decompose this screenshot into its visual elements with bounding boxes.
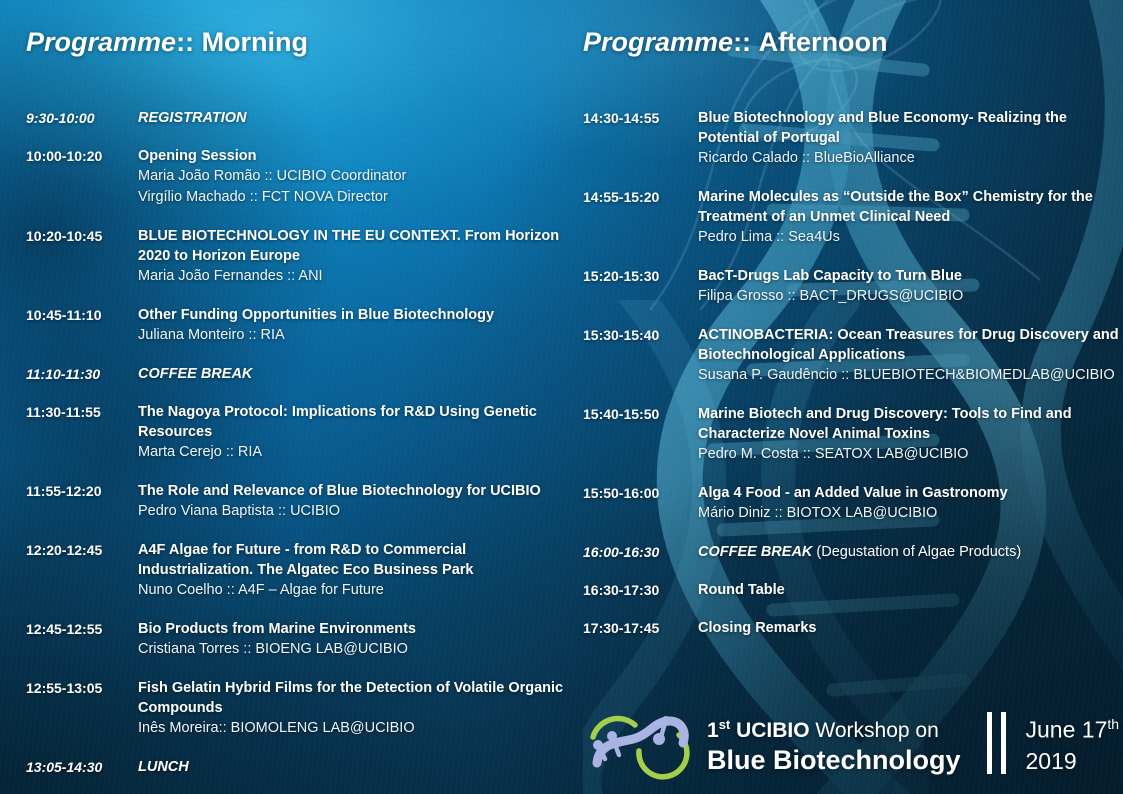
poster-content: Programme:: Morning 9:30-10:00REGISTRATI… xyxy=(0,0,1123,794)
schedule-row: 9:30-10:00REGISTRATION xyxy=(26,108,571,128)
schedule-row-speaker: Susana P. Gaudêncio :: BLUEBIOTECH&BIOME… xyxy=(698,365,1123,386)
footer-divider xyxy=(987,712,1006,774)
schedule-row-title-text: Closing Remarks xyxy=(698,620,816,636)
schedule-row: 11:30-11:55The Nagoya Protocol: Implicat… xyxy=(26,402,571,463)
schedule-row-body: Marine Molecules as “Outside the Box” Ch… xyxy=(698,187,1123,248)
schedule-row-time: 15:40-15:50 xyxy=(583,404,698,424)
schedule-row-time: 14:30-14:55 xyxy=(583,108,698,128)
schedule-row-time: 11:55-12:20 xyxy=(26,481,138,501)
morning-title-programme: Programme xyxy=(26,27,176,57)
schedule-row-title: Blue Biotechnology and Blue Economy- Rea… xyxy=(698,108,1123,148)
schedule-row-title: Closing Remarks xyxy=(698,618,1123,638)
schedule-row-title: A4F Algae for Future - from R&D to Comme… xyxy=(138,540,571,580)
schedule-row: 15:40-15:50Marine Biotech and Drug Disco… xyxy=(583,404,1123,465)
schedule-row-title-text: Opening Session xyxy=(138,148,256,164)
workshop-organisation: UCIBIO xyxy=(730,719,809,742)
schedule-row-body: Closing Remarks xyxy=(698,618,1123,638)
schedule-row: 12:20-12:45A4F Algae for Future - from R… xyxy=(26,540,571,601)
footer-divider-bar-1 xyxy=(987,712,992,774)
afternoon-title-period: Afternoon xyxy=(759,27,888,57)
schedule-row-speaker: Ricardo Calado :: BlueBioAlliance xyxy=(698,148,1123,169)
ucibio-blue-biotechnology-logo-icon xyxy=(583,703,695,783)
schedule-row-body: Other Funding Opportunities in Blue Biot… xyxy=(138,305,571,346)
workshop-ordinal-suffix: st xyxy=(719,717,731,732)
schedule-row: 16:00-16:30COFFEE BREAK (Degustation of … xyxy=(583,542,1123,562)
schedule-row-title: LUNCH xyxy=(138,757,571,777)
schedule-row-title: The Nagoya Protocol: Implications for R&… xyxy=(138,402,571,442)
schedule-row-title: Other Funding Opportunities in Blue Biot… xyxy=(138,305,571,325)
schedule-row: 12:45-12:55Bio Products from Marine Envi… xyxy=(26,619,571,660)
schedule-row-speaker: Maria João Romão :: UCIBIO Coordinator xyxy=(138,166,571,187)
schedule-row-speaker: Pedro Viana Baptista :: UCIBIO xyxy=(138,501,571,522)
schedule-row-body: Opening SessionMaria João Romão :: UCIBI… xyxy=(138,146,571,208)
schedule-row-time: 10:45-11:10 xyxy=(26,305,138,325)
schedule-row-body: COFFEE BREAK (Degustation of Algae Produ… xyxy=(698,542,1123,562)
schedule-row-time: 10:00-10:20 xyxy=(26,146,138,166)
schedule-row: 11:55-12:20The Role and Relevance of Blu… xyxy=(26,481,571,522)
schedule-row-body: Round Table xyxy=(698,580,1123,600)
schedule-row-title-text: BacT-Drugs Lab Capacity to Turn Blue xyxy=(698,268,962,284)
schedule-row-body: ACTINOBACTERIA: Ocean Treasures for Drug… xyxy=(698,325,1123,386)
schedule-row-speaker: Marta Cerejo :: RIA xyxy=(138,442,571,463)
footer-banner: 1st UCIBIO Workshop on Blue Biotechnolog… xyxy=(583,700,1115,786)
event-date: June 17th 2019 xyxy=(1026,709,1120,777)
schedule-row-title-text: ACTINOBACTERIA: Ocean Treasures for Drug… xyxy=(698,327,1119,363)
schedule-row-title: BLUE BIOTECHNOLOGY IN THE EU CONTEXT. Fr… xyxy=(138,226,571,266)
schedule-row-title-text: COFFEE BREAK xyxy=(698,544,812,560)
schedule-row-title: Round Table xyxy=(698,580,1123,600)
schedule-row-time: 15:30-15:40 xyxy=(583,325,698,345)
schedule-row: 10:00-10:20Opening SessionMaria João Rom… xyxy=(26,146,571,208)
event-date-year: 2019 xyxy=(1026,746,1120,777)
morning-title-separator: :: xyxy=(176,27,194,57)
schedule-row-title: ACTINOBACTERIA: Ocean Treasures for Drug… xyxy=(698,325,1123,365)
schedule-row-title-text: Fish Gelatin Hybrid Films for the Detect… xyxy=(138,680,563,716)
schedule-row: 10:45-11:10Other Funding Opportunities i… xyxy=(26,305,571,346)
schedule-row-body: REGISTRATION xyxy=(138,108,571,128)
workshop-ordinal-number: 1 xyxy=(707,719,719,742)
afternoon-title-separator: :: xyxy=(733,27,751,57)
schedule-row-speaker: Pedro M. Costa :: SEATOX LAB@UCIBIO xyxy=(698,444,1123,465)
morning-schedule-list: 9:30-10:00REGISTRATION10:00-10:20Opening… xyxy=(26,108,571,794)
schedule-row-title: Marine Molecules as “Outside the Box” Ch… xyxy=(698,187,1123,227)
schedule-row: 16:30-17:30Round Table xyxy=(583,580,1123,600)
schedule-row-body: BacT-Drugs Lab Capacity to Turn BlueFili… xyxy=(698,266,1123,307)
schedule-row-time: 9:30-10:00 xyxy=(26,108,138,128)
schedule-row-title-text: Other Funding Opportunities in Blue Biot… xyxy=(138,307,494,323)
schedule-row-time: 16:30-17:30 xyxy=(583,580,698,600)
schedule-row-time: 15:50-16:00 xyxy=(583,483,698,503)
schedule-row-body: Fish Gelatin Hybrid Films for the Detect… xyxy=(138,678,571,739)
schedule-row-title-text: REGISTRATION xyxy=(138,110,246,126)
schedule-row-title-text: COFFEE BREAK xyxy=(138,366,252,382)
schedule-row: 11:10-11:30COFFEE BREAK xyxy=(26,364,571,384)
schedule-row-title: REGISTRATION xyxy=(138,108,571,128)
schedule-row-title: COFFEE BREAK (Degustation of Algae Produ… xyxy=(698,542,1123,562)
schedule-row-speaker: Maria João Fernandes :: ANI xyxy=(138,266,571,287)
schedule-row-title: BacT-Drugs Lab Capacity to Turn Blue xyxy=(698,266,1123,286)
schedule-row-title: Marine Biotech and Drug Discovery: Tools… xyxy=(698,404,1123,444)
morning-column-title: Programme:: Morning xyxy=(26,28,308,58)
schedule-row-body: Blue Biotechnology and Blue Economy- Rea… xyxy=(698,108,1123,169)
schedule-row-time: 11:10-11:30 xyxy=(26,364,138,384)
schedule-row-body: BLUE BIOTECHNOLOGY IN THE EU CONTEXT. Fr… xyxy=(138,226,571,287)
schedule-row: 15:20-15:30BacT-Drugs Lab Capacity to Tu… xyxy=(583,266,1123,307)
schedule-row-time: 13:05-14:30 xyxy=(26,757,138,777)
schedule-row-body: A4F Algae for Future - from R&D to Comme… xyxy=(138,540,571,601)
schedule-row-title-text: The Nagoya Protocol: Implications for R&… xyxy=(138,404,537,440)
event-date-month-day: June 17 xyxy=(1026,717,1108,743)
schedule-row-time: 12:45-12:55 xyxy=(26,619,138,639)
schedule-row-speaker: Nuno Coelho :: A4F – Algae for Future xyxy=(138,580,571,601)
afternoon-schedule-list: 14:30-14:55Blue Biotechnology and Blue E… xyxy=(583,108,1123,656)
schedule-row-title-note: (Degustation of Algae Products) xyxy=(812,544,1021,560)
footer-title-group: 1st UCIBIO Workshop on Blue Biotechnolog… xyxy=(707,711,961,776)
schedule-row-title: Fish Gelatin Hybrid Films for the Detect… xyxy=(138,678,571,718)
schedule-row-time: 12:55-13:05 xyxy=(26,678,138,698)
schedule-row: 15:30-15:40ACTINOBACTERIA: Ocean Treasur… xyxy=(583,325,1123,386)
schedule-row-body: The Role and Relevance of Blue Biotechno… xyxy=(138,481,571,522)
workshop-subject: Blue Biotechnology xyxy=(707,744,961,776)
footer-divider-bar-2 xyxy=(1001,712,1006,774)
schedule-row: 14:55-15:20Marine Molecules as “Outside … xyxy=(583,187,1123,248)
schedule-row-time: 17:30-17:45 xyxy=(583,618,698,638)
schedule-row-time: 10:20-10:45 xyxy=(26,226,138,246)
schedule-row: 13:05-14:30LUNCH xyxy=(26,757,571,777)
schedule-row-speaker: Cristiana Torres :: BIOENG LAB@UCIBIO xyxy=(138,639,571,660)
schedule-row-speaker: Inês Moreira:: BIOMOLENG LAB@UCIBIO xyxy=(138,718,571,739)
schedule-row-title-text: BLUE BIOTECHNOLOGY IN THE EU CONTEXT. Fr… xyxy=(138,228,559,264)
afternoon-title-programme: Programme xyxy=(583,27,733,57)
schedule-row-body: The Nagoya Protocol: Implications for R&… xyxy=(138,402,571,463)
schedule-row: 12:55-13:05Fish Gelatin Hybrid Films for… xyxy=(26,678,571,739)
schedule-row: 15:50-16:00Alga 4 Food - an Added Value … xyxy=(583,483,1123,524)
conference-programme-poster: Programme:: Morning 9:30-10:00REGISTRATI… xyxy=(0,0,1123,794)
schedule-row-speaker: Juliana Monteiro :: RIA xyxy=(138,325,571,346)
schedule-row-title-text: A4F Algae for Future - from R&D to Comme… xyxy=(138,542,473,578)
schedule-row-speaker: Mário Diniz :: BIOTOX LAB@UCIBIO xyxy=(698,503,1123,524)
schedule-row-speaker: Pedro Lima :: Sea4Us xyxy=(698,227,1123,248)
schedule-row-title: Opening Session xyxy=(138,146,571,166)
schedule-row-title: COFFEE BREAK xyxy=(138,364,571,384)
schedule-row-time: 14:55-15:20 xyxy=(583,187,698,207)
event-date-day-line: June 17th xyxy=(1026,709,1120,746)
schedule-row-body: COFFEE BREAK xyxy=(138,364,571,384)
schedule-row-title-text: The Role and Relevance of Blue Biotechno… xyxy=(138,483,541,499)
schedule-row-title-text: Round Table xyxy=(698,582,785,598)
schedule-row-speaker: Virgílio Machado :: FCT NOVA Director xyxy=(138,187,571,208)
workshop-title-line1: 1st UCIBIO Workshop on xyxy=(707,711,961,744)
schedule-row-title: Bio Products from Marine Environments xyxy=(138,619,571,639)
schedule-row-title-text: Marine Biotech and Drug Discovery: Tools… xyxy=(698,406,1072,442)
schedule-row-title-text: Bio Products from Marine Environments xyxy=(138,621,416,637)
schedule-row-title: The Role and Relevance of Blue Biotechno… xyxy=(138,481,571,501)
schedule-row-body: Alga 4 Food - an Added Value in Gastrono… xyxy=(698,483,1123,524)
schedule-row-body: LUNCH xyxy=(138,757,571,777)
afternoon-column-title: Programme:: Afternoon xyxy=(583,28,888,58)
workshop-label: Workshop on xyxy=(810,719,939,742)
schedule-row: 10:20-10:45BLUE BIOTECHNOLOGY IN THE EU … xyxy=(26,226,571,287)
schedule-row-time: 15:20-15:30 xyxy=(583,266,698,286)
morning-title-period: Morning xyxy=(202,27,308,57)
schedule-row-title-text: Blue Biotechnology and Blue Economy- Rea… xyxy=(698,110,1067,146)
schedule-row-title: Alga 4 Food - an Added Value in Gastrono… xyxy=(698,483,1123,503)
schedule-row: 14:30-14:55Blue Biotechnology and Blue E… xyxy=(583,108,1123,169)
event-date-day-suffix: th xyxy=(1107,716,1119,732)
schedule-row-time: 11:30-11:55 xyxy=(26,402,138,422)
schedule-row-speaker: Filipa Grosso :: BACT_DRUGS@UCIBIO xyxy=(698,286,1123,307)
schedule-row-body: Bio Products from Marine EnvironmentsCri… xyxy=(138,619,571,660)
schedule-row: 17:30-17:45Closing Remarks xyxy=(583,618,1123,638)
schedule-row-title-text: Marine Molecules as “Outside the Box” Ch… xyxy=(698,189,1093,225)
schedule-row-title-text: LUNCH xyxy=(138,759,189,775)
schedule-row-time: 12:20-12:45 xyxy=(26,540,138,560)
schedule-row-time: 16:00-16:30 xyxy=(583,542,698,562)
schedule-row-body: Marine Biotech and Drug Discovery: Tools… xyxy=(698,404,1123,465)
schedule-row-title-text: Alga 4 Food - an Added Value in Gastrono… xyxy=(698,485,1008,501)
